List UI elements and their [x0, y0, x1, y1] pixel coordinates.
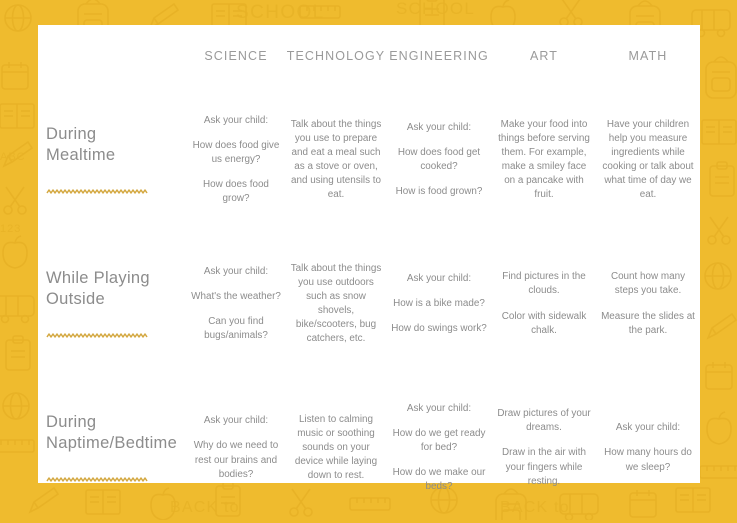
table-row: While Playing Outside Ask your child:Wha…	[38, 235, 700, 379]
steam-activities-table: SCIENCE TECHNOLOGY ENGINEERING ART MATH …	[38, 25, 700, 523]
cell-paragraph: How do swings work?	[389, 322, 489, 336]
cell-paragraph: Draw pictures of your dreams.	[495, 407, 593, 435]
cell-content: Ask your child:What's the weather?Can yo…	[189, 265, 283, 343]
cell-content: Have your children help you measure ingr…	[599, 118, 697, 202]
decorative-squiggle	[46, 188, 148, 196]
svg-text:SCHOOL: SCHOOL	[236, 2, 325, 23]
cell-technology-row1: Talk about the things you use to prepare…	[286, 91, 386, 235]
cell-paragraph: How is food grown?	[389, 185, 489, 199]
cell-paragraph: Can you find bugs/animals?	[189, 315, 283, 343]
row-label-cell-2: While Playing Outside	[38, 235, 186, 379]
cell-art-row2: Find pictures in the clouds.Color with s…	[492, 235, 596, 379]
cell-paragraph: Count how many steps you take.	[599, 270, 697, 298]
cell-content: Count how many steps you take.Measure th…	[599, 270, 697, 337]
cell-content: Ask your child:How is a bike made?How do…	[389, 272, 489, 336]
decorative-squiggle	[46, 476, 148, 484]
row-label-cell-3: During Naptime/Bedtime	[38, 379, 186, 523]
svg-text:123: 123	[0, 223, 21, 235]
cell-technology-row3: Listen to calming music or soothing soun…	[286, 379, 386, 523]
cell-paragraph: Ask your child:	[599, 421, 697, 435]
cell-paragraph: Find pictures in the clouds.	[495, 270, 593, 298]
cell-paragraph: Ask your child:	[189, 114, 283, 128]
row-label-text: While Playing Outside	[46, 268, 180, 310]
row-label-cell-1: During Mealtime	[38, 91, 186, 235]
cell-math-row2: Count how many steps you take.Measure th…	[596, 235, 700, 379]
column-header-engineering: ENGINEERING	[386, 25, 492, 91]
column-header-label	[38, 25, 186, 91]
cell-paragraph: How does food get cooked?	[389, 146, 489, 174]
column-header-technology: TECHNOLOGY	[286, 25, 386, 91]
cell-content: Ask your child:How many hours do we slee…	[599, 421, 697, 474]
cell-science-row3: Ask your child:Why do we need to rest ou…	[186, 379, 286, 523]
cell-paragraph: How many hours do we sleep?	[599, 446, 697, 474]
cell-paragraph: Listen to calming music or soothing soun…	[289, 413, 383, 483]
cell-content: Ask your child:How do we get ready for b…	[389, 402, 489, 494]
cell-content: Make your food into things before servin…	[495, 118, 593, 202]
row-label-text: During Mealtime	[46, 124, 180, 166]
row-label-text: During Naptime/Bedtime	[46, 412, 180, 454]
cell-science-row2: Ask your child:What's the weather?Can yo…	[186, 235, 286, 379]
cell-paragraph: Make your food into things before servin…	[495, 118, 593, 202]
cell-science-row1: Ask your child:How does food give us ene…	[186, 91, 286, 235]
cell-paragraph: Measure the slides at the park.	[599, 310, 697, 338]
table-row: During Naptime/Bedtime Ask your child:Wh…	[38, 379, 700, 523]
activity-chart-card: SCIENCE TECHNOLOGY ENGINEERING ART MATH …	[38, 25, 700, 483]
cell-paragraph: Have your children help you measure ingr…	[599, 118, 697, 202]
header-row: SCIENCE TECHNOLOGY ENGINEERING ART MATH	[38, 25, 700, 91]
cell-paragraph: Ask your child:	[389, 121, 489, 135]
table-body: During Mealtime Ask your child:How does …	[38, 91, 700, 523]
column-header-science: SCIENCE	[186, 25, 286, 91]
column-header-math: MATH	[596, 25, 700, 91]
cell-content: Talk about the things you use to prepare…	[289, 118, 383, 202]
cell-math-row3: Ask your child:How many hours do we slee…	[596, 379, 700, 523]
cell-paragraph: How is a bike made?	[389, 297, 489, 311]
cell-paragraph: Color with sidewalk chalk.	[495, 310, 593, 338]
cell-math-row1: Have your children help you measure ingr…	[596, 91, 700, 235]
cell-content: Ask your child:How does food get cooked?…	[389, 121, 489, 199]
svg-text:ABC: ABC	[0, 151, 26, 163]
cell-paragraph: How do we make our beds?	[389, 466, 489, 494]
table-header: SCIENCE TECHNOLOGY ENGINEERING ART MATH	[38, 25, 700, 91]
cell-paragraph: How do we get ready for bed?	[389, 427, 489, 455]
cell-content: Ask your child:How does food give us ene…	[189, 114, 283, 206]
column-header-art: ART	[492, 25, 596, 91]
cell-art-row1: Make your food into things before servin…	[492, 91, 596, 235]
cell-content: Listen to calming music or soothing soun…	[289, 413, 383, 483]
svg-text:SCHOOL: SCHOOL	[396, 0, 475, 18]
cell-engineering-row1: Ask your child:How does food get cooked?…	[386, 91, 492, 235]
cell-paragraph: Talk about the things you use outdoors s…	[289, 262, 383, 346]
cell-content: Draw pictures of your dreams.Draw in the…	[495, 407, 593, 488]
cell-engineering-row3: Ask your child:How do we get ready for b…	[386, 379, 492, 523]
cell-paragraph: How does food give us energy?	[189, 139, 283, 167]
cell-content: Ask your child:Why do we need to rest ou…	[189, 414, 283, 481]
cell-paragraph: Talk about the things you use to prepare…	[289, 118, 383, 202]
cell-engineering-row2: Ask your child:How is a bike made?How do…	[386, 235, 492, 379]
decorative-squiggle	[46, 332, 148, 340]
table-row: During Mealtime Ask your child:How does …	[38, 91, 700, 235]
cell-paragraph: Ask your child:	[189, 414, 283, 428]
cell-paragraph: Ask your child:	[389, 272, 489, 286]
cell-paragraph: Draw in the air with your fingers while …	[495, 446, 593, 488]
cell-art-row3: Draw pictures of your dreams.Draw in the…	[492, 379, 596, 523]
cell-content: Talk about the things you use outdoors s…	[289, 262, 383, 346]
cell-paragraph: How does food grow?	[189, 178, 283, 206]
cell-technology-row2: Talk about the things you use outdoors s…	[286, 235, 386, 379]
cell-paragraph: Ask your child:	[389, 402, 489, 416]
cell-paragraph: What's the weather?	[189, 290, 283, 304]
cell-paragraph: Ask your child:	[189, 265, 283, 279]
cell-paragraph: Why do we need to rest our brains and bo…	[189, 439, 283, 481]
cell-content: Find pictures in the clouds.Color with s…	[495, 270, 593, 337]
